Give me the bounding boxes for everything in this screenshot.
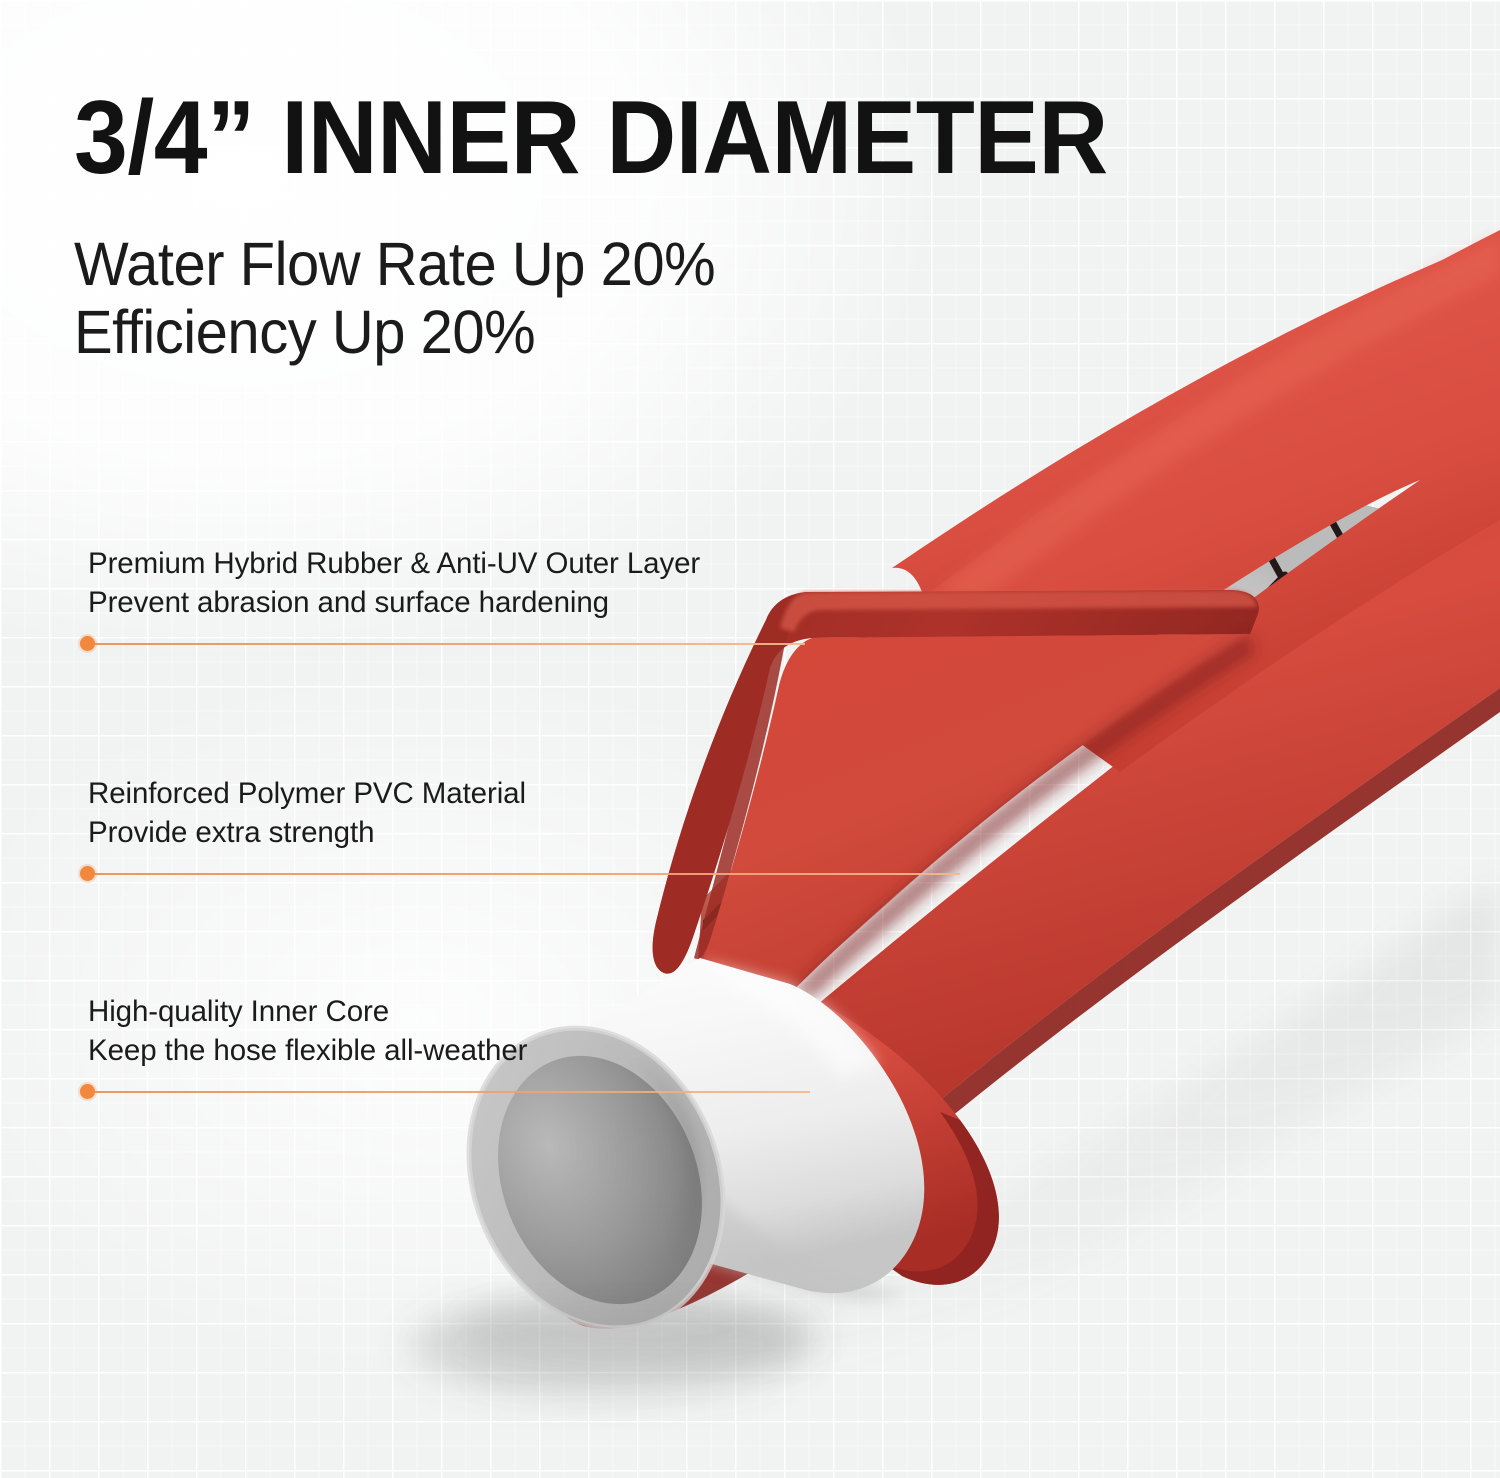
callout-2-leader-dot bbox=[80, 866, 95, 881]
callout-1-subtitle: Prevent abrasion and surface hardening bbox=[88, 583, 700, 622]
callout-3-leader-line bbox=[95, 1091, 810, 1093]
callout-2-subtitle: Provide extra strength bbox=[88, 813, 526, 852]
subheadline-line-2: Efficiency Up 20% bbox=[74, 298, 1338, 366]
callout-1-leader-dot bbox=[80, 636, 95, 651]
callout-2-title: Reinforced Polymer PVC Material bbox=[88, 774, 526, 813]
page-title: 3/4” INNER DIAMETER bbox=[74, 86, 1311, 190]
callout-inner-core: High-quality Inner Core Keep the hose fl… bbox=[88, 992, 527, 1070]
subheadline: Water Flow Rate Up 20% Efficiency Up 20% bbox=[74, 230, 1338, 367]
callout-outer-layer: Premium Hybrid Rubber & Anti-UV Outer La… bbox=[88, 544, 700, 622]
callout-3-leader-dot bbox=[80, 1084, 95, 1099]
callout-1-leader-line bbox=[95, 643, 805, 645]
callout-3-subtitle: Keep the hose flexible all-weather bbox=[88, 1031, 527, 1070]
callout-2-leader-line bbox=[95, 873, 960, 875]
headline-block: 3/4” INNER DIAMETER Water Flow Rate Up 2… bbox=[74, 86, 1404, 367]
product-infographic: 3/4” INNER DIAMETER Water Flow Rate Up 2… bbox=[0, 0, 1500, 1478]
callout-3-title: High-quality Inner Core bbox=[88, 992, 527, 1031]
callout-1-title: Premium Hybrid Rubber & Anti-UV Outer La… bbox=[88, 544, 700, 583]
callout-pvc-material: Reinforced Polymer PVC Material Provide … bbox=[88, 774, 526, 852]
subheadline-line-1: Water Flow Rate Up 20% bbox=[74, 230, 1338, 298]
